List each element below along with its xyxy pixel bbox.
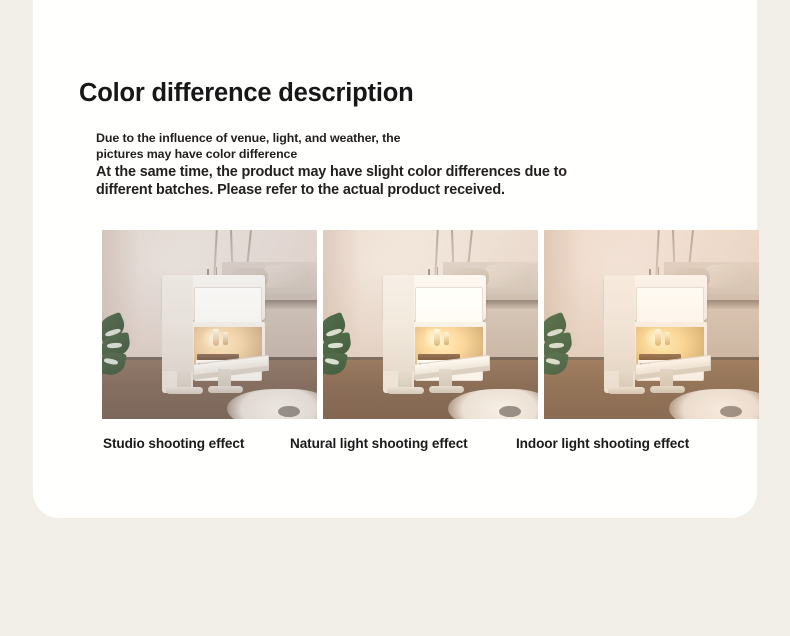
nightstand-body-side [383,322,414,371]
description-paragraph-2-line-2: different batches. Please refer to the a… [96,182,716,200]
nightstand-foot [387,387,424,394]
pillow [484,262,533,288]
nightstand-foot [166,387,203,394]
bottle [655,329,661,346]
photo-caption: Studio shooting effect [103,436,317,451]
rug-spot [499,406,521,417]
nightstand-body-side [162,322,193,371]
product-photo-cell: Studio shooting effect [102,230,317,451]
product-photo-indoor-light[interactable] [544,230,759,419]
bottle [434,329,440,346]
product-photo-cell: Natural light shooting effect [323,230,538,451]
photo-caption: Indoor light shooting effect [516,436,759,451]
color-difference-card: Color difference description Due to the … [33,0,757,518]
bottle [213,329,219,346]
pillow [263,262,312,288]
nightstand [383,275,486,392]
nightstand-room-scene [544,230,759,419]
bottle [223,332,228,346]
nightstand [604,275,707,392]
bottle [665,332,670,346]
bottle [444,332,449,346]
page-title: Color difference description [79,79,413,108]
rug-spot [720,406,742,417]
description-paragraph-1-line-2: pictures may have color difference [96,147,716,163]
page-root: Color difference description Due to the … [0,0,790,636]
plant [102,313,145,389]
description-paragraph-1-line-1: Due to the influence of venue, light, an… [96,131,716,147]
nightstand-foot [650,386,685,393]
nightstand-body-side [604,322,635,371]
nightstand-room-scene [323,230,538,419]
description-block: Due to the influence of venue, light, an… [96,131,716,199]
product-photo-studio[interactable] [102,230,317,419]
rug-spot [278,406,300,417]
pillow [705,262,754,288]
product-photo-natural-light[interactable] [323,230,538,419]
product-photo-cell: Indoor light shooting effect [544,230,759,451]
nightstand-foot [608,387,645,394]
product-photo-row: Studio shooting effect [102,230,761,451]
nightstand-foot [208,386,243,393]
description-paragraph-1: Due to the influence of venue, light, an… [96,131,716,162]
nightstand-foot [429,386,464,393]
description-paragraph-2-line-1: At the same time, the product may have s… [96,164,716,182]
plant [544,313,587,389]
plant [323,313,366,389]
nightstand-room-scene [102,230,317,419]
photo-caption: Natural light shooting effect [290,436,538,451]
description-paragraph-2: At the same time, the product may have s… [96,164,716,199]
nightstand [162,275,265,392]
